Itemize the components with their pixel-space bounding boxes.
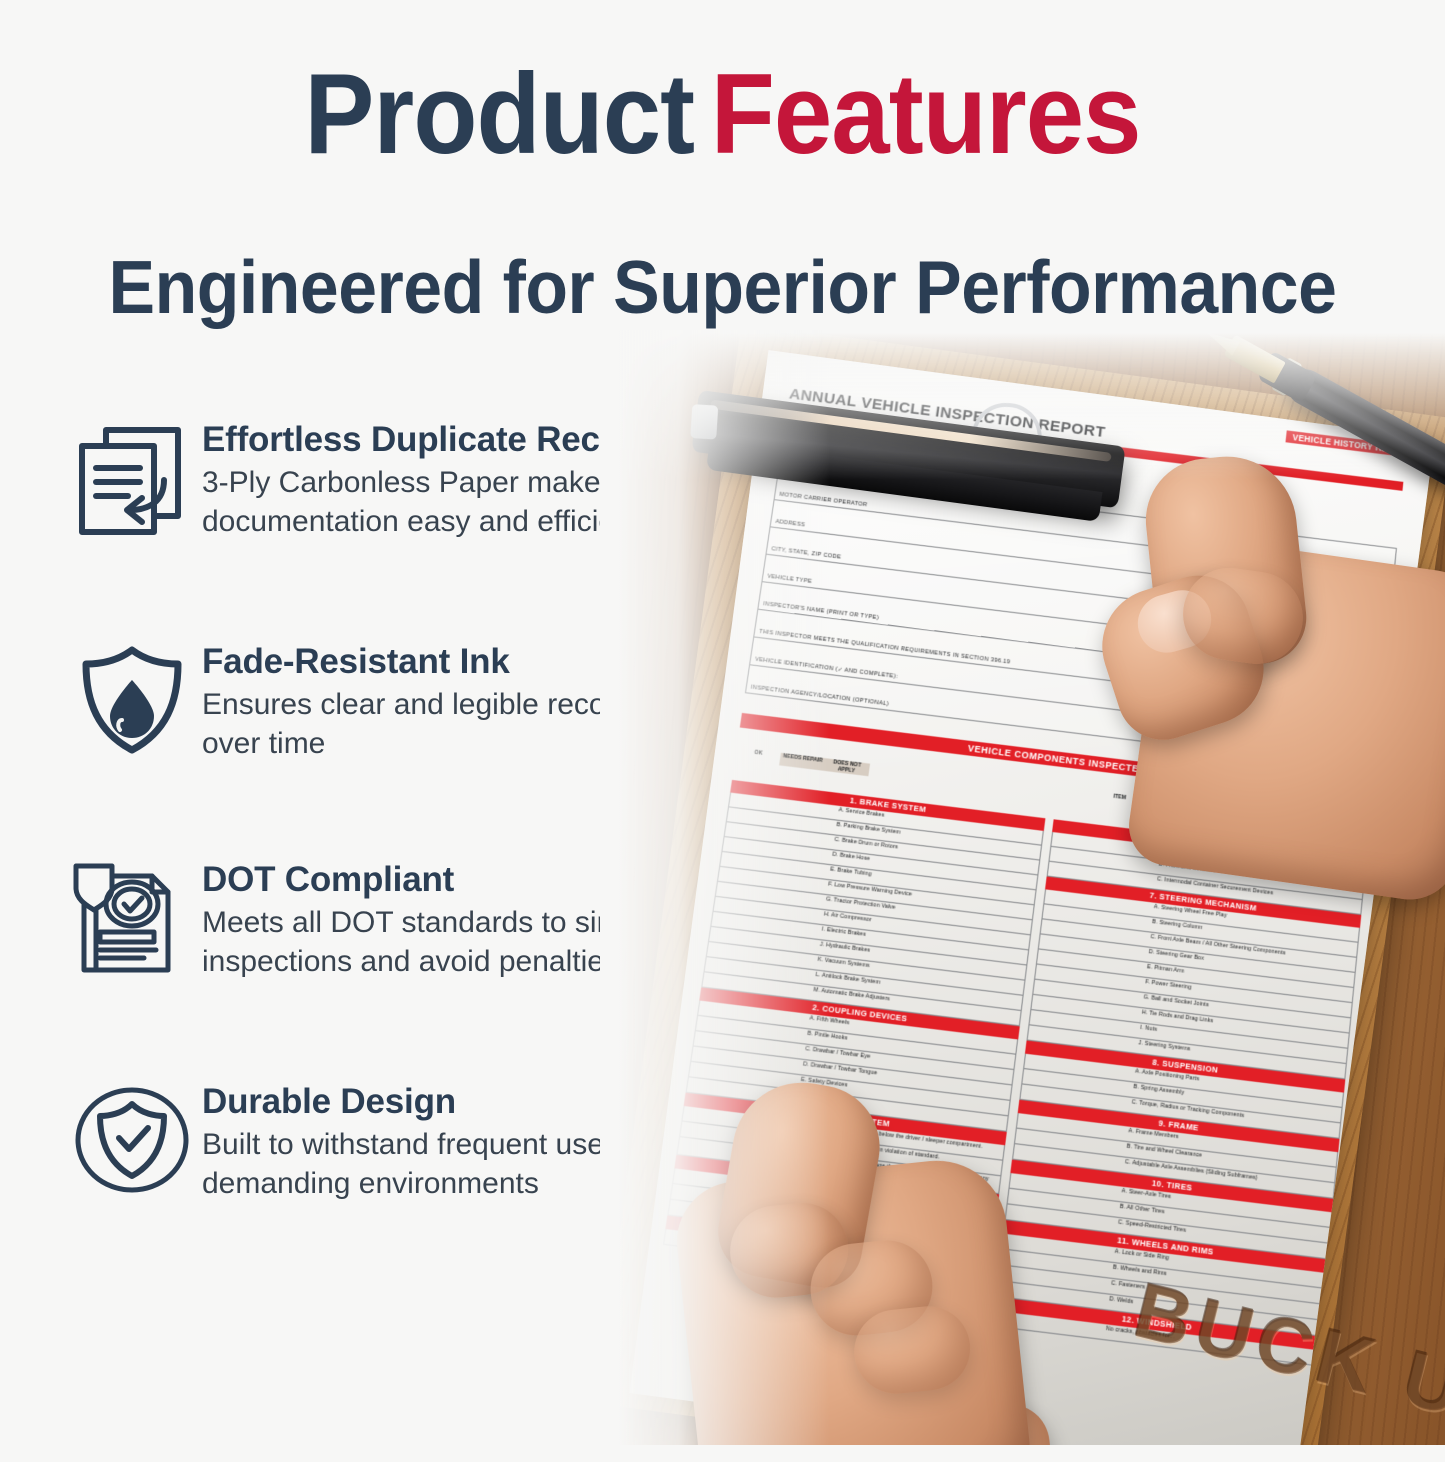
column-header-needs-repair: NEEDS REPAIR <box>779 753 825 771</box>
page-subtitle: Engineered for Superior Performance <box>51 250 1395 325</box>
shield-ink-drop-icon <box>62 630 202 770</box>
duplicate-documents-icon <box>62 408 202 548</box>
infographic-stage: ProductFeatures Engineered for Superior … <box>0 0 1445 1445</box>
inspection-section: 1. BRAKE SYSTEMA. Service BrakesB. Parki… <box>701 779 1046 1026</box>
document-check-shield-icon <box>62 848 202 988</box>
clip-pin <box>690 404 718 440</box>
title-part-features: Features <box>711 51 1141 178</box>
title-part-product: Product <box>304 51 694 178</box>
product-photo: ANNUAL VEHICLE INSPECTION REPORT VEHICLE… <box>600 330 1445 1445</box>
field-label: INSPECTION AGENCY/LOCATION (OPTIONAL) <box>750 684 889 707</box>
column-header-not-apply: DOES NOT APPLY <box>824 758 870 776</box>
column-header-ok: OK <box>735 747 781 765</box>
left-hand-holding-clipboard <box>617 1009 1084 1445</box>
shield-check-circle-icon <box>62 1070 202 1210</box>
page-title: ProductFeatures <box>58 58 1387 172</box>
